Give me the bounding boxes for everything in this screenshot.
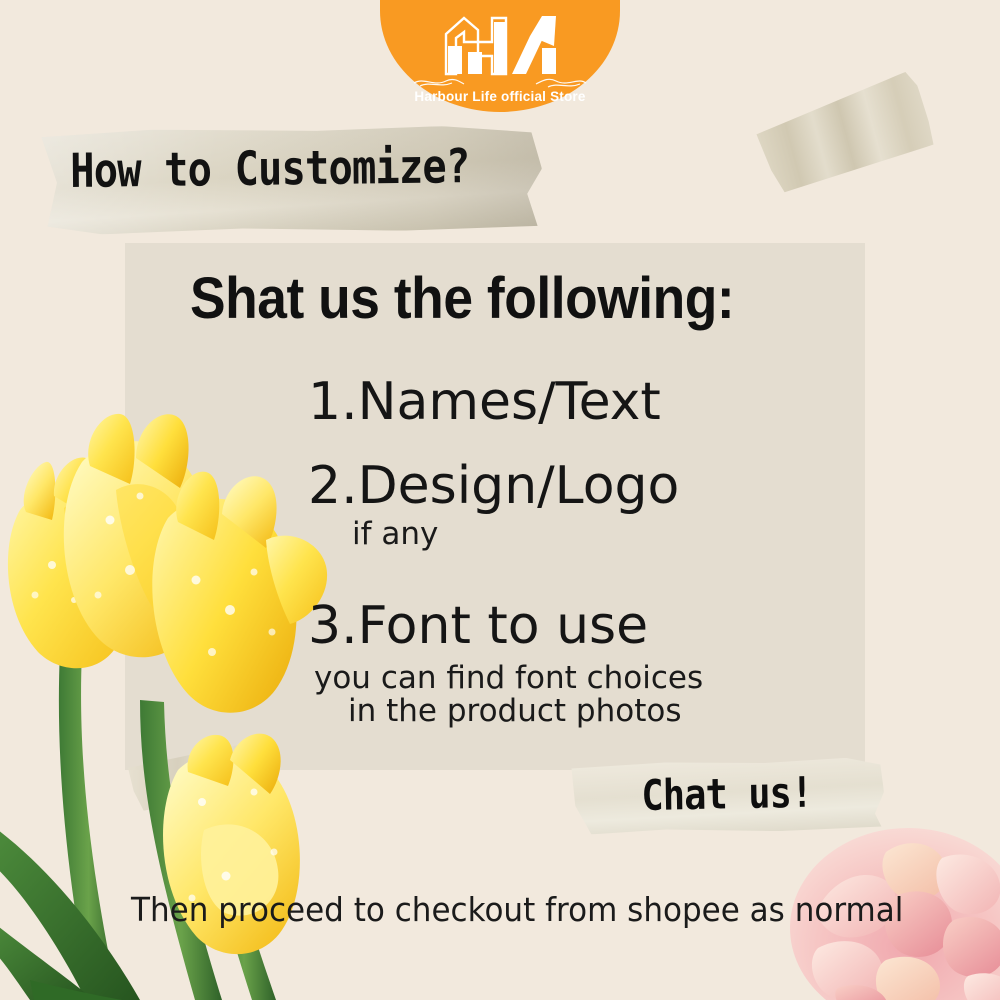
wave-decor-icon: [410, 76, 590, 88]
headline: Shat us the following:: [190, 265, 734, 332]
step-3-note-line2: in the product photos: [348, 695, 703, 728]
store-name-label: Harbour Life official Store: [414, 89, 585, 104]
step-2-label: 2.Design/Logo: [308, 460, 703, 512]
step-2-note: if any: [352, 518, 703, 551]
step-3-note-line1: you can find font choices: [314, 662, 703, 695]
footer-note: Then proceed to checkout from shopee as …: [131, 890, 903, 929]
steps-list: 1.Names/Text 2.Design/Logo if any 3.Font…: [308, 376, 703, 728]
store-logo-badge[interactable]: Harbour Life official Store: [380, 0, 620, 112]
promo-poster: How to Customize?: [0, 0, 1000, 1000]
chat-us-cta[interactable]: Chat us!: [641, 768, 813, 820]
step-3-label: 3.Font to use: [308, 600, 703, 652]
ha-monogram-icon: [434, 12, 566, 78]
tape-corner-decor: [754, 70, 939, 201]
step-1-label: 1.Names/Text: [308, 376, 703, 428]
page-title: How to Customize?: [70, 139, 470, 199]
